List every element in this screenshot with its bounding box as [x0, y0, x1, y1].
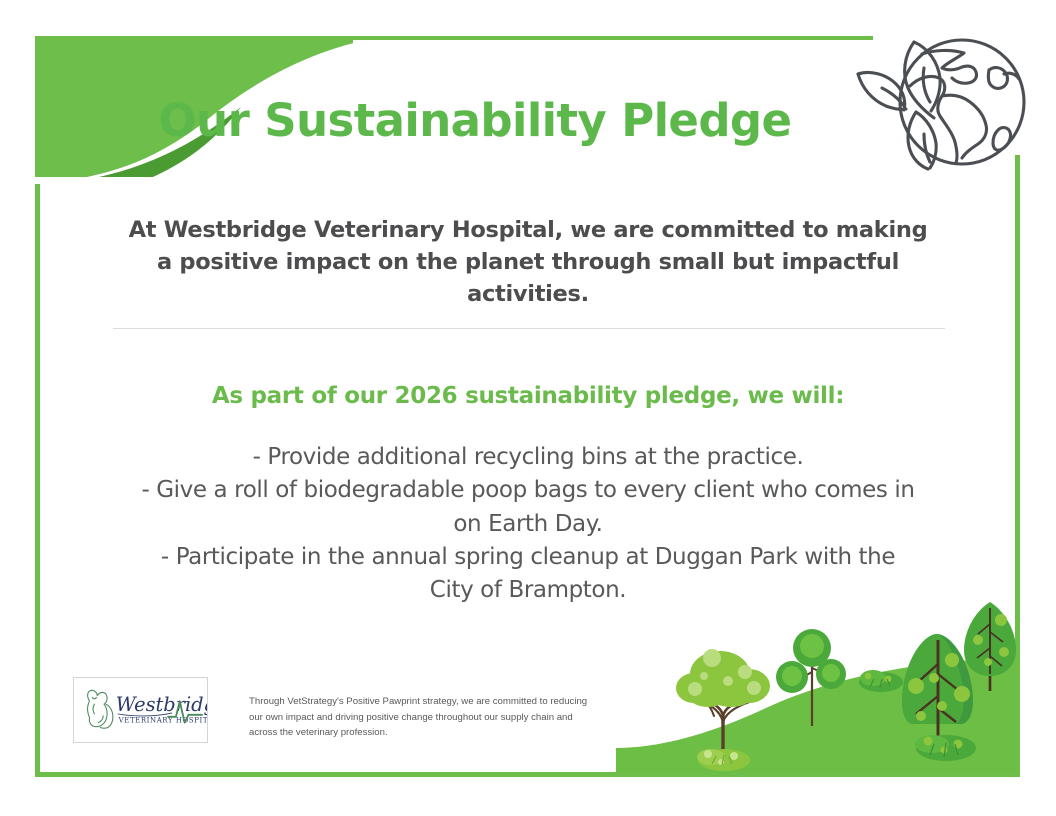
footer-line: our own impact and driving positive chan… [249, 710, 639, 726]
footer-line: Through VetStrategy's Positive Pawprint … [249, 694, 639, 710]
pledge-list: - Provide additional recycling bins at t… [140, 441, 916, 608]
westbridge-logo-mark: Westbridge VETERINARY HOSPITAL [74, 678, 207, 742]
section-divider [113, 328, 945, 329]
footer-disclaimer: Through VetStrategy's Positive Pawprint … [249, 694, 639, 741]
list-item: - Provide additional recycling bins at t… [140, 441, 916, 474]
intro-paragraph: At Westbridge Veterinary Hospital, we ar… [120, 215, 936, 311]
logo-subtitle-text: VETERINARY HOSPITAL [118, 717, 207, 725]
trees-hill-illustration [616, 596, 1020, 773]
sustainability-pledge-poster: Our Sustainability Pledge At Westbridge … [0, 0, 1056, 816]
list-item: - Give a roll of biodegradable poop bags… [140, 474, 916, 541]
footer-line: across the veterinary profession. [249, 725, 639, 741]
pledge-heading: As part of our 2026 sustainability pledg… [120, 383, 936, 409]
westbridge-logo: Westbridge VETERINARY HOSPITAL [73, 677, 208, 743]
logo-brand-text: Westbridge [116, 693, 207, 716]
page-title: Our Sustainability Pledge [60, 96, 890, 146]
